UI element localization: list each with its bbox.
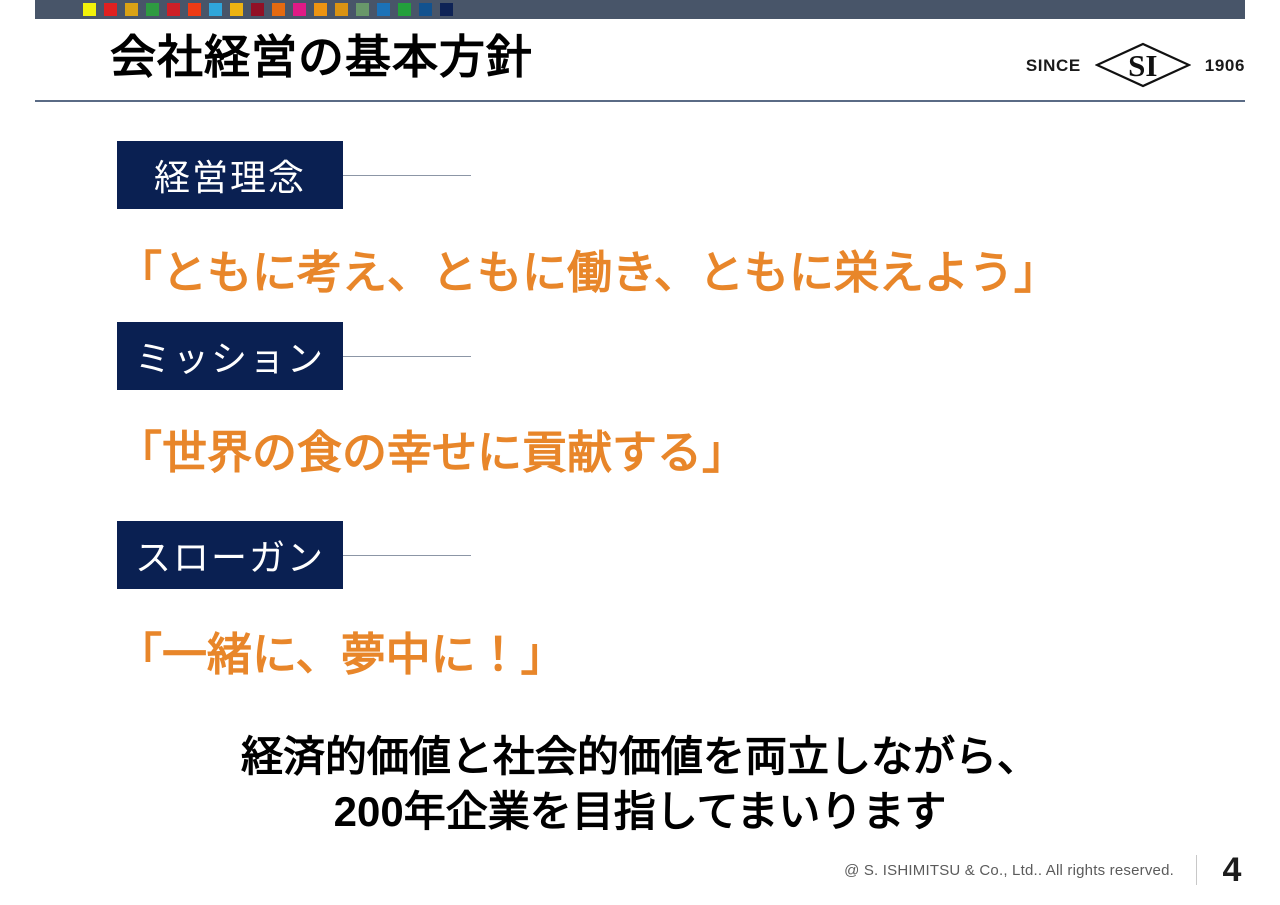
slide: 会社経営の基本方針 SINCE SI 1906 経営理念 「ともに考え、ともに働… [0,0,1280,905]
slide-footer: @ S. ISHIMITSU & Co., Ltd.. All rights r… [844,853,1245,887]
page-number: 4 [1219,853,1245,887]
closing-line-1: 経済的価値と社会的価値を両立しながら、 [0,733,1280,781]
connector-line-philosophy [343,175,471,176]
swatch-navy [440,3,453,16]
swatch-red [104,3,117,16]
swatch-grass-green [398,3,411,16]
logo-monogram: SI [1128,50,1157,81]
footer-separator [1196,855,1197,885]
swatch-red-orange [188,3,201,16]
connector-line-mission [343,356,471,357]
swatch-crimson [167,3,180,16]
statement-philosophy: 「ともに考え、ともに働き、ともに栄えよう」 [117,248,1059,298]
swatch-orange [272,3,285,16]
connector-line-slogan [343,555,471,556]
swatch-deep-blue [419,3,432,16]
company-logo: SINCE SI 1906 [1026,43,1245,87]
header-divider [35,100,1245,102]
swatch-orange-2 [314,3,327,16]
logo-diamond-icon: SI [1095,42,1191,88]
logo-since-label: SINCE [1026,57,1081,74]
swatch-sage-green [356,3,369,16]
swatch-dark-red [251,3,264,16]
closing-line-2: 200年企業を目指してまいります [0,788,1280,836]
section-label-philosophy: 経営理念 [117,141,343,209]
swatch-dark-gold [335,3,348,16]
color-swatch-strip [83,3,453,16]
swatch-sky-blue [209,3,222,16]
swatch-steel-blue [377,3,390,16]
statement-mission: 「世界の食の幸せに貢献する」 [117,428,747,478]
logo-year-label: 1906 [1205,57,1245,74]
swatch-green [146,3,159,16]
page-title: 会社経営の基本方針 [110,32,533,83]
swatch-gold [125,3,138,16]
swatch-amber [230,3,243,16]
swatch-magenta [293,3,306,16]
section-label-slogan: スローガン [117,521,343,589]
copyright-text: @ S. ISHIMITSU & Co., Ltd.. All rights r… [844,863,1174,878]
swatch-yellow [83,3,96,16]
section-label-mission: ミッション [117,322,343,390]
statement-slogan: 「一緒に、夢中に！」 [117,630,566,680]
